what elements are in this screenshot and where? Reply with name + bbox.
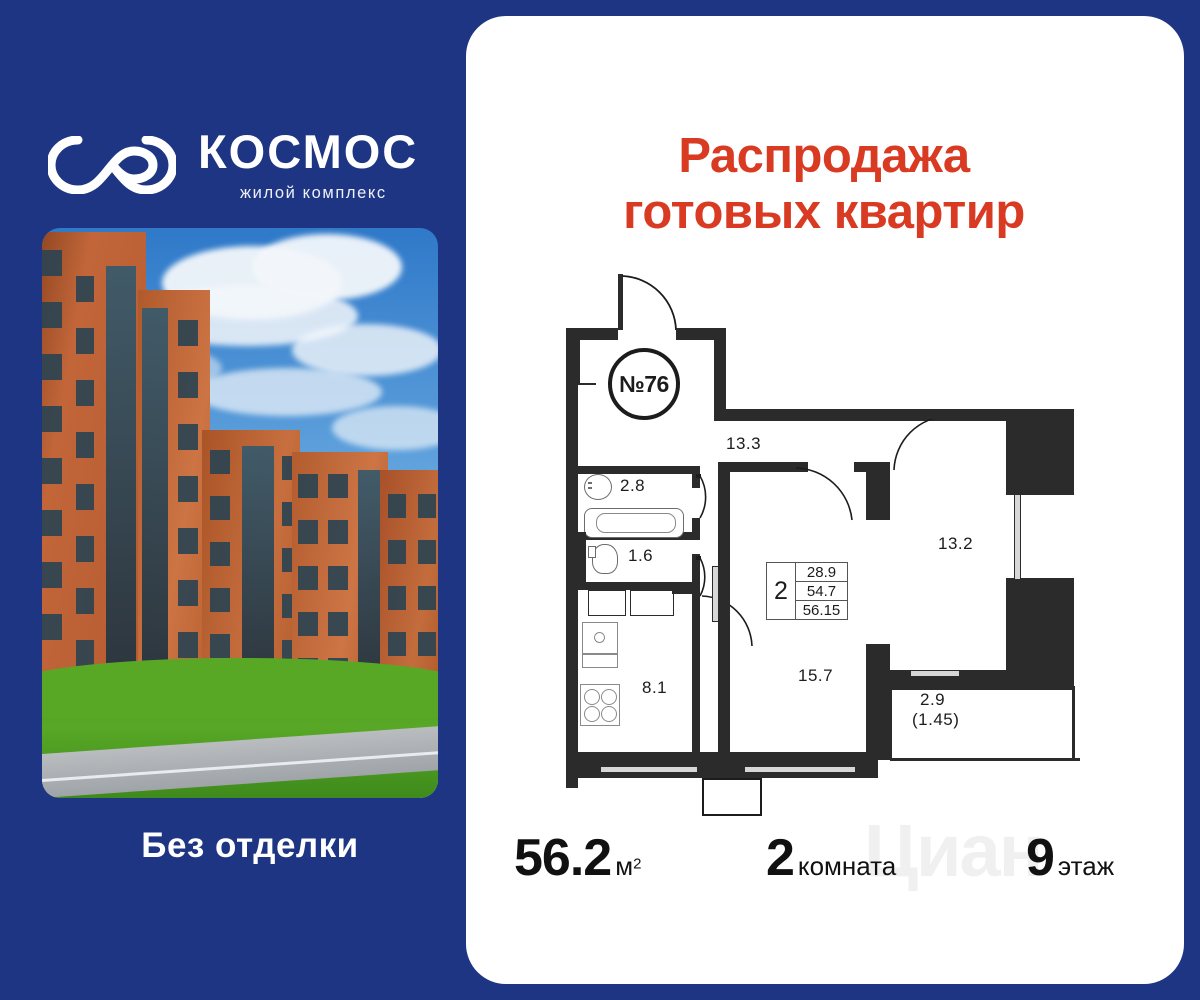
- infinity-loop-icon: [48, 136, 176, 194]
- wall-segment: [692, 518, 700, 540]
- bedroom-window: [1014, 494, 1021, 580]
- summary-bar: 56.2м2 2комната 9этаж: [466, 816, 1184, 916]
- sink-tap-icon: [588, 487, 592, 489]
- brand-name: КОСМОС: [198, 126, 418, 178]
- floorplan: №76 13.3 2.8 1.6: [566, 266, 1086, 776]
- stamp-total-area: 56.15: [796, 601, 847, 619]
- balcony-line: [890, 686, 1010, 688]
- balcony-rail: [1006, 686, 1074, 689]
- wall-segment: [1006, 578, 1074, 690]
- balcony-line: [890, 686, 892, 760]
- area-label-bathroom: 2.8: [620, 476, 645, 496]
- summary-floor-value: 9: [1026, 829, 1054, 887]
- balcony-door-glass: [910, 670, 960, 677]
- bedroom-door-arc: [890, 414, 952, 472]
- area-stamp: 2 28.9 54.7 56.15: [766, 562, 848, 620]
- wall-segment: [866, 644, 878, 760]
- building-tower: [138, 290, 210, 702]
- sink-drain-icon: [594, 632, 605, 643]
- niche-line: [578, 340, 580, 384]
- wall-segment: [578, 466, 700, 474]
- window-grid: [42, 232, 146, 702]
- wall-segment: [878, 644, 890, 760]
- area-label-living-room: 15.7: [798, 666, 833, 686]
- finish-caption: Без отделки: [0, 826, 500, 866]
- burner-icon: [601, 706, 617, 722]
- window-grid: [138, 290, 210, 702]
- stamp-living-area: 28.9: [796, 563, 847, 582]
- stamp-room-count: 2: [767, 563, 796, 619]
- area-label-wc: 1.6: [628, 546, 653, 566]
- cloud-shape: [192, 368, 382, 416]
- headline-line-2: готовых квартир: [494, 184, 1154, 240]
- balcony-rail: [890, 758, 1080, 761]
- niche-line: [578, 383, 596, 385]
- wall-segment: [692, 594, 700, 760]
- toilet-tank-icon: [588, 546, 596, 558]
- kitchen-window: [600, 766, 698, 773]
- area-label-kitchen: 8.1: [642, 678, 667, 698]
- area-label-hallway: 13.3: [726, 434, 761, 454]
- summary-area-unit: м: [615, 851, 633, 881]
- area-label-balcony-coefficient: (1.45): [912, 710, 959, 730]
- counter-icon: [582, 654, 618, 668]
- entry-door-arc: [618, 274, 680, 334]
- wall-segment: [718, 752, 878, 778]
- summary-floor: 9этаж: [1026, 828, 1114, 888]
- living-room-door-arc: [794, 466, 856, 522]
- summary-area-value: 56.2: [514, 829, 611, 887]
- balcony-rail: [1072, 686, 1075, 760]
- summary-area-unit-sup: 2: [633, 856, 641, 873]
- living-room-side-window: [712, 566, 719, 622]
- burner-icon: [584, 706, 600, 722]
- page-title: Распродажа готовых квартир: [494, 128, 1154, 240]
- brand-text: КОСМОС жилой комплекс: [198, 126, 418, 203]
- headline-line-1: Распродажа: [494, 128, 1154, 184]
- burner-icon: [601, 689, 617, 705]
- bathtub-inner: [596, 513, 676, 533]
- apartment-number-badge: №76: [608, 348, 680, 420]
- summary-area: 56.2м2: [514, 828, 641, 888]
- summary-floor-label: этаж: [1058, 851, 1114, 881]
- living-room-window: [744, 766, 856, 773]
- summary-rooms-label: комната: [798, 851, 896, 881]
- wall-segment: [1006, 409, 1074, 495]
- wall-segment: [578, 532, 586, 590]
- area-label-bedroom: 13.2: [938, 534, 973, 554]
- content-card: Распродажа готовых квартир №76 13.3: [466, 16, 1184, 984]
- wall-segment: [866, 462, 878, 520]
- burner-icon: [584, 689, 600, 705]
- brand-block: КОСМОС жилой комплекс: [48, 120, 448, 212]
- wall-segment: [566, 752, 726, 778]
- stamp-area-without-balcony: 54.7: [796, 582, 847, 601]
- sink-tap-icon: [588, 482, 592, 484]
- closet-icon: [588, 590, 626, 616]
- closet-icon: [630, 590, 674, 616]
- left-brand-panel: КОСМОС жилой комплекс: [0, 0, 500, 1000]
- wall-segment: [566, 328, 578, 658]
- building-tower: [42, 232, 146, 702]
- stamp-values: 28.9 54.7 56.15: [796, 563, 847, 619]
- area-label-balcony: 2.9: [920, 690, 945, 710]
- brand-subtitle: жилой комплекс: [240, 184, 418, 203]
- wall-segment: [878, 462, 890, 520]
- balcony-outline: [702, 778, 762, 816]
- summary-rooms: 2комната: [766, 828, 896, 888]
- summary-rooms-value: 2: [766, 829, 794, 887]
- wall-segment: [714, 328, 726, 418]
- bedroom-door-leaf: [890, 414, 952, 419]
- wall-segment: [718, 462, 730, 760]
- building-photo: [42, 228, 438, 798]
